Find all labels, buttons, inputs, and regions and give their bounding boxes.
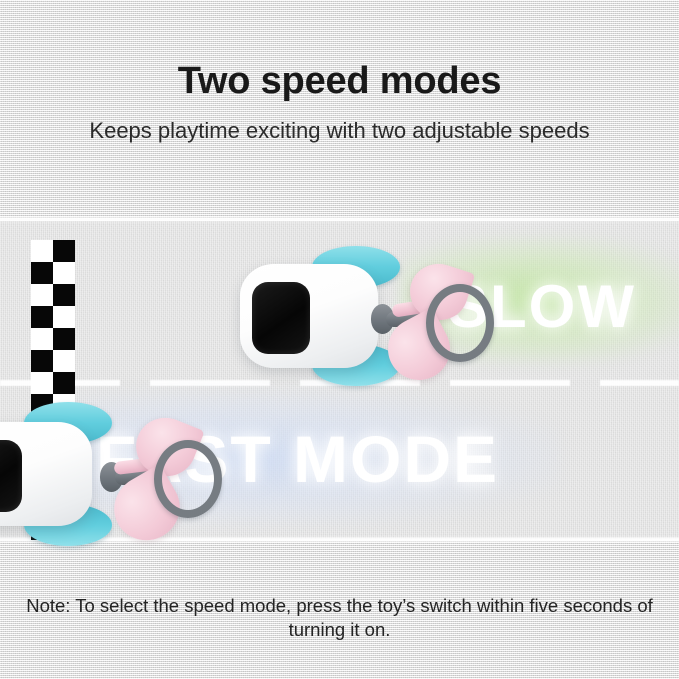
speed-mode-note: Note: To select the speed mode, press th… [0, 594, 679, 642]
page-title: Two speed modes [0, 62, 679, 102]
toy-face-screen [252, 282, 310, 354]
page-subtitle: Keeps playtime exciting with two adjusta… [0, 117, 679, 145]
toy-car-slow-lane [240, 252, 460, 382]
road-edge-line-top [0, 216, 679, 223]
toy-face-screen [0, 440, 22, 512]
toy-pull-ring [154, 440, 222, 518]
toy-car-fast-lane [0, 410, 194, 540]
product-feature-card: Two speed modes Keeps playtime exciting … [0, 0, 679, 679]
toy-pull-ring [426, 284, 494, 362]
